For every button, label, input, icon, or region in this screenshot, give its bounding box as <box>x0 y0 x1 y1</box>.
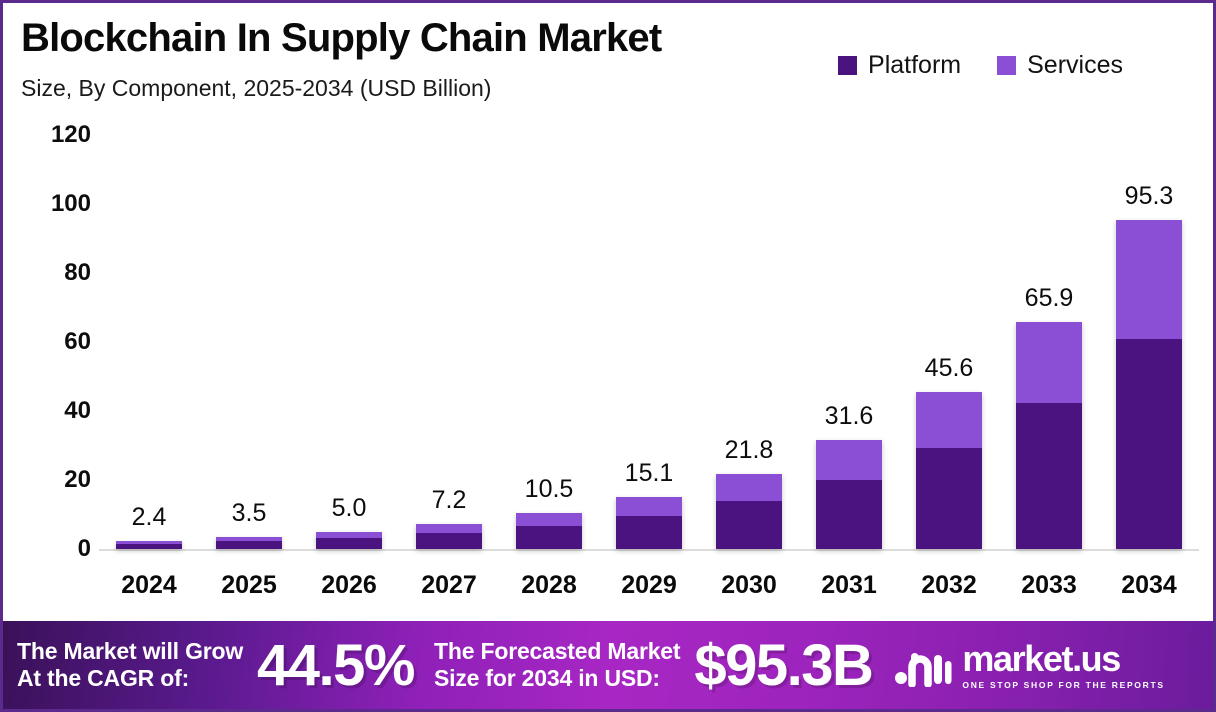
bar-group[interactable]: 21.82030 <box>699 113 799 608</box>
bar-value-label: 65.9 <box>1025 284 1074 313</box>
legend-label-services: Services <box>1027 51 1123 80</box>
bar-segment-services[interactable] <box>816 440 882 480</box>
bar-stack[interactable] <box>616 497 682 549</box>
chart-header: Blockchain In Supply Chain Market Size, … <box>3 3 1216 113</box>
y-axis-tick: 120 <box>17 121 91 149</box>
legend-swatch-services <box>997 56 1016 75</box>
bar-segment-services[interactable] <box>916 392 982 449</box>
page-subtitle: Size, By Component, 2025-2034 (USD Billi… <box>21 75 491 102</box>
chart-legend: Platform Services <box>838 51 1123 80</box>
y-axis-tick: 0 <box>17 535 91 563</box>
bar-group[interactable]: 65.92033 <box>999 113 1099 608</box>
bar-segment-platform[interactable] <box>1116 339 1182 549</box>
kpi-forecast: The Forecasted Market Size for 2034 in U… <box>434 632 872 699</box>
x-axis-tick: 2029 <box>621 571 677 600</box>
x-axis-tick: 2028 <box>521 571 577 600</box>
kpi-forecast-caption-line1: The Forecasted Market <box>434 638 680 665</box>
kpi-cagr-value: 44.5% <box>257 632 414 699</box>
y-axis-tick: 60 <box>17 328 91 356</box>
brand-name: market.us <box>962 641 1164 677</box>
legend-label-platform: Platform <box>868 51 961 80</box>
bar-segment-services[interactable] <box>516 513 582 526</box>
bar-stack[interactable] <box>516 513 582 549</box>
x-axis-tick: 2030 <box>721 571 777 600</box>
bar-stack[interactable] <box>1016 322 1082 549</box>
bar-group[interactable]: 5.02026 <box>299 113 399 608</box>
bar-segment-platform[interactable] <box>116 544 182 549</box>
x-axis-tick: 2034 <box>1121 571 1177 600</box>
x-axis-tick: 2027 <box>421 571 477 600</box>
legend-item-services: Services <box>997 51 1123 80</box>
x-axis-tick: 2031 <box>821 571 877 600</box>
bar-stack[interactable] <box>116 541 182 549</box>
kpi-forecast-caption: The Forecasted Market Size for 2034 in U… <box>434 638 680 692</box>
bar-value-label: 5.0 <box>332 494 367 523</box>
y-axis-tick: 40 <box>17 397 91 425</box>
bar-segment-platform[interactable] <box>416 533 482 549</box>
kpi-cagr-caption-line1: The Market will Grow <box>17 638 243 665</box>
x-axis-tick: 2025 <box>221 571 277 600</box>
y-axis-tick: 80 <box>17 259 91 287</box>
bar-group[interactable]: 7.22027 <box>399 113 499 608</box>
bar-stack[interactable] <box>216 537 282 549</box>
bar-stack[interactable] <box>1116 220 1182 549</box>
bar-group[interactable]: 10.52028 <box>499 113 599 608</box>
bar-stack[interactable] <box>716 474 782 549</box>
bar-group[interactable]: 45.62032 <box>899 113 999 608</box>
kpi-cagr-caption: The Market will Grow At the CAGR of: <box>17 638 243 692</box>
bar-group[interactable]: 2.42024 <box>99 113 199 608</box>
x-axis-tick: 2026 <box>321 571 377 600</box>
bar-segment-platform[interactable] <box>616 516 682 549</box>
x-axis-tick: 2024 <box>121 571 177 600</box>
kpi-forecast-value: $95.3B <box>694 632 872 699</box>
bar-segment-platform[interactable] <box>916 448 982 549</box>
y-axis: 020406080100120 <box>3 113 91 608</box>
bar-value-label: 21.8 <box>725 436 774 465</box>
brand-logo: market.us ONE STOP SHOP FOR THE REPORTS <box>894 641 1164 690</box>
bar-segment-services[interactable] <box>416 524 482 533</box>
bar-value-label: 2.4 <box>132 503 167 532</box>
bar-stack[interactable] <box>416 524 482 549</box>
bar-value-label: 45.6 <box>925 354 974 383</box>
bar-stack[interactable] <box>816 440 882 549</box>
bar-group[interactable]: 31.62031 <box>799 113 899 608</box>
bar-segment-services[interactable] <box>716 474 782 501</box>
bar-value-label: 95.3 <box>1125 182 1174 211</box>
y-axis-tick: 20 <box>17 466 91 494</box>
kpi-footer: The Market will Grow At the CAGR of: 44.… <box>3 621 1216 709</box>
bar-group[interactable]: 15.12029 <box>599 113 699 608</box>
bar-group[interactable]: 95.32034 <box>1099 113 1199 608</box>
bar-value-label: 3.5 <box>232 499 267 528</box>
bar-segment-platform[interactable] <box>716 501 782 549</box>
brand-tagline: ONE STOP SHOP FOR THE REPORTS <box>962 681 1164 690</box>
bar-segment-services[interactable] <box>1016 322 1082 403</box>
bar-value-label: 10.5 <box>525 475 574 504</box>
x-axis-tick: 2032 <box>921 571 977 600</box>
bar-series-container: 2.420243.520255.020267.2202710.5202815.1… <box>99 113 1199 608</box>
legend-swatch-platform <box>838 56 857 75</box>
bar-segment-platform[interactable] <box>1016 403 1082 549</box>
bar-segment-platform[interactable] <box>216 541 282 549</box>
chart-plot-area: 020406080100120 2.420243.520255.020267.2… <box>3 113 1216 608</box>
bar-stack[interactable] <box>916 392 982 549</box>
bar-segment-platform[interactable] <box>816 480 882 549</box>
kpi-forecast-caption-line2: Size for 2034 in USD: <box>434 665 680 692</box>
kpi-cagr: The Market will Grow At the CAGR of: 44.… <box>17 632 414 699</box>
infographic-card: Blockchain In Supply Chain Market Size, … <box>0 0 1216 712</box>
bar-group[interactable]: 3.52025 <box>199 113 299 608</box>
bar-segment-platform[interactable] <box>516 526 582 549</box>
bar-segment-services[interactable] <box>1116 220 1182 338</box>
market-us-logo-icon <box>894 643 952 687</box>
kpi-cagr-caption-line2: At the CAGR of: <box>17 665 243 692</box>
legend-item-platform: Platform <box>838 51 961 80</box>
bar-value-label: 7.2 <box>432 486 467 515</box>
brand-text: market.us ONE STOP SHOP FOR THE REPORTS <box>962 641 1164 690</box>
bar-stack[interactable] <box>316 532 382 549</box>
bar-segment-services[interactable] <box>616 497 682 516</box>
bar-value-label: 31.6 <box>825 402 874 431</box>
bar-value-label: 15.1 <box>625 459 674 488</box>
page-title: Blockchain In Supply Chain Market <box>21 16 661 61</box>
y-axis-tick: 100 <box>17 190 91 218</box>
x-axis-tick: 2033 <box>1021 571 1077 600</box>
bar-segment-platform[interactable] <box>316 538 382 549</box>
